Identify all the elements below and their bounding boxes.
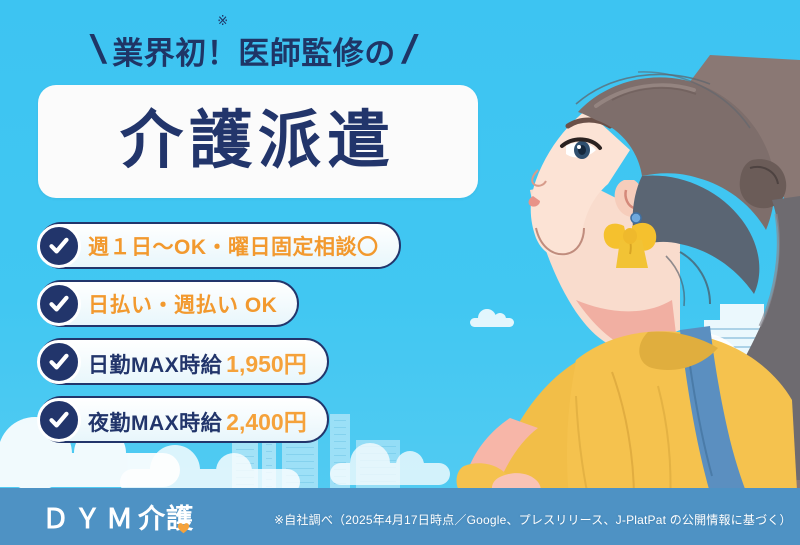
- brand-logo[interactable]: ＤＹＭ 介護: [42, 497, 194, 536]
- list-item: 日勤MAX時給1,950円: [38, 338, 329, 385]
- list-item-amount: 1,950円: [226, 351, 307, 377]
- list-item: 日払い・週払い OK: [38, 280, 299, 327]
- list-item: 週１日〜OK・曜日固定相談〇: [38, 222, 401, 269]
- headline: \ 業界初！医師監修の ※ /: [44, 24, 464, 76]
- list-item-amount: 2,400円: [226, 409, 307, 435]
- list-item-label: 日払い・週払い OK: [88, 289, 277, 319]
- slash-right-icon: /: [399, 30, 420, 70]
- heart-icon: [177, 522, 190, 534]
- woman-illustration: [380, 0, 800, 545]
- feature-list: 週１日〜OK・曜日固定相談〇 日払い・週払い OK 日勤MAX時給1,950円: [38, 222, 401, 443]
- check-icon: [37, 282, 81, 326]
- check-icon: [37, 398, 81, 442]
- recruitment-banner: \ 業界初！医師監修の ※ / 介護派遣 週１日〜OK・曜日固定相談〇: [0, 0, 800, 545]
- list-item-label: 夜勤MAX時給2,400円: [88, 403, 307, 437]
- list-item-label: 日勤MAX時給1,950円: [88, 345, 307, 379]
- headline-label: 業界初！医師監修の: [112, 36, 396, 71]
- list-item-title: 日勤MAX時給: [88, 354, 222, 377]
- check-icon: [37, 224, 81, 268]
- disclaimer-wrapper: ※自社調べ（2025年4月17日時点／Google、プレスリリース、J-Plat…: [248, 511, 792, 529]
- page-title: 介護派遣: [120, 110, 396, 173]
- title-card: 介護派遣: [38, 85, 478, 198]
- list-item-title: 夜勤MAX時給: [88, 412, 222, 435]
- slash-left-icon: \: [88, 30, 109, 70]
- brand-logo-dym: ＤＹＭ: [42, 497, 138, 536]
- check-icon: [37, 340, 81, 384]
- headline-text: 業界初！医師監修の ※: [112, 28, 396, 73]
- disclaimer-text: ※自社調べ（2025年4月17日時点／Google、プレスリリース、J-Plat…: [274, 513, 792, 527]
- brand-logo-kaigo: 介護: [138, 497, 194, 536]
- list-item-label: 週１日〜OK・曜日固定相談〇: [88, 231, 379, 261]
- list-item: 夜勤MAX時給2,400円: [38, 396, 329, 443]
- asterisk-icon: ※: [217, 13, 228, 29]
